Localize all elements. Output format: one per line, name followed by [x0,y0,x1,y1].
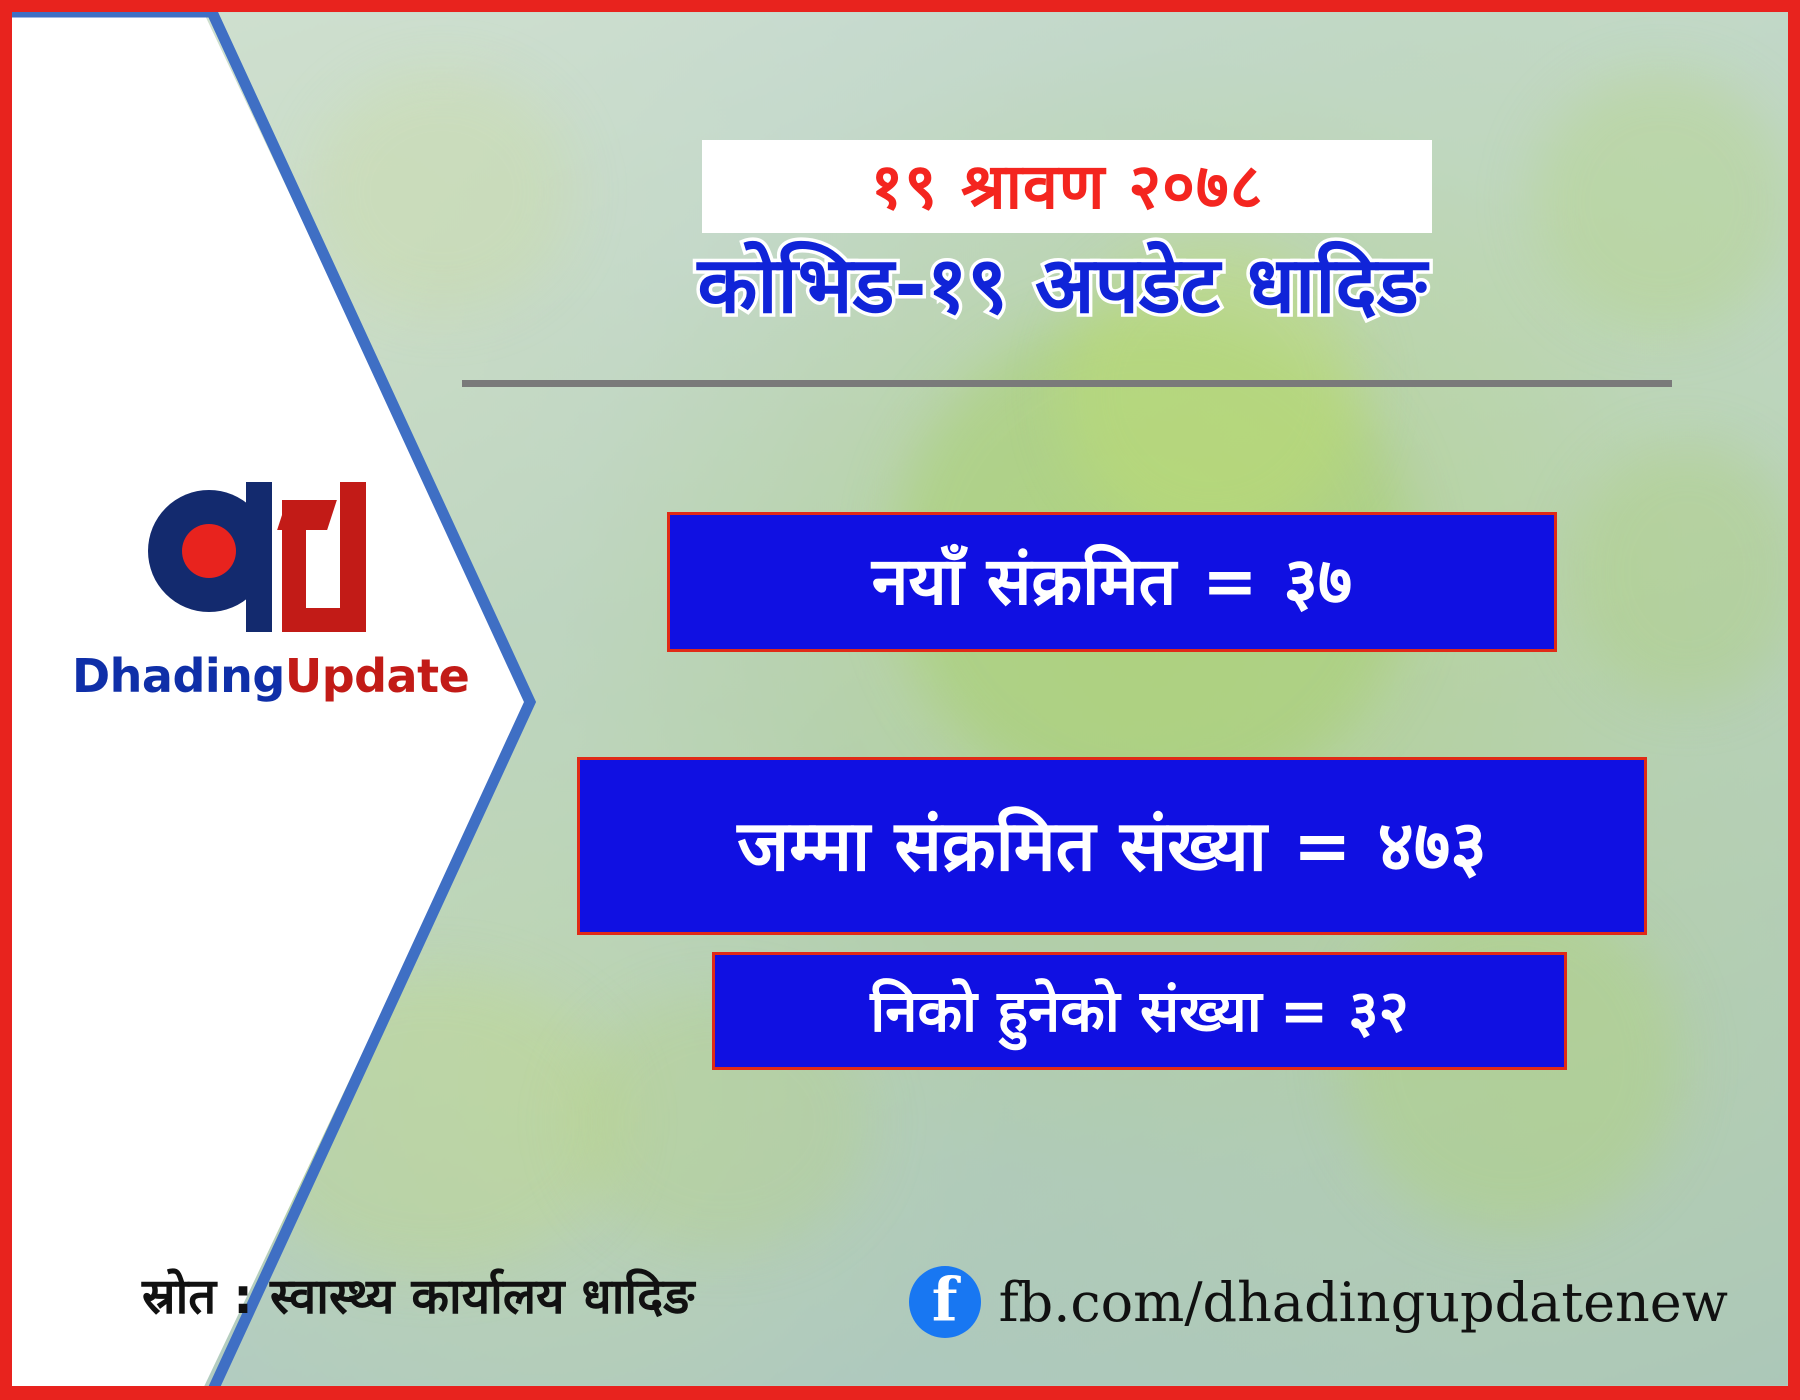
facebook-icon[interactable] [909,1266,981,1338]
brand-logo: DhadingUpdate [72,482,442,699]
logo-u-right-stroke [340,482,366,632]
stat-label-new-cases: नयाँ संक्रमित [872,549,1176,615]
stat-equals-total-cases: = [1293,811,1352,881]
facebook-handle[interactable]: fb.com/dhadingupdatenew [909,1266,1728,1338]
brand-wordmark-part1: Dhading [72,649,285,703]
stat-label-total-cases: जम्मा संक्रमित संख्या [737,811,1267,881]
facebook-url-text[interactable]: fb.com/dhadingupdatenew [999,1271,1728,1334]
stat-label-recovered: निको हुनेको संख्या [870,982,1262,1040]
du-monogram-icon [142,482,372,647]
date-text: १९ श्रावण २०७८ [871,155,1264,218]
stat-card-recovered: निको हुनेको संख्या = ३२ [712,952,1567,1070]
date-banner: १९ श्रावण २०७८ [702,140,1432,233]
page-title-text: कोभिड-१९ अपडेट धादिङ [697,244,1426,328]
stat-value-recovered: ३२ [1348,982,1408,1040]
brand-wordmark-part2: Update [285,649,469,703]
poster-canvas: DhadingUpdate १९ श्रावण २०७८ कोभिड-१९ अप… [12,12,1788,1386]
stat-value-total-cases: ४७३ [1378,811,1487,881]
stat-card-total-cases: जम्मा संक्रमित संख्या = ४७३ [577,757,1647,935]
page-title: कोभिड-१९ अपडेट धादिङ [442,244,1682,328]
logo-d-counter [182,524,236,578]
stat-equals-new-cases: = [1202,549,1257,615]
title-underline-divider [462,380,1672,387]
stat-card-new-cases: नयाँ संक्रमित = ३७ [667,512,1557,652]
stat-equals-recovered: = [1280,982,1329,1040]
logo-d-stem [246,482,272,632]
source-credit: स्रोत : स्वास्थ्य कार्यालय धादिङ [142,1262,694,1328]
poster-root: DhadingUpdate १९ श्रावण २०७८ कोभिड-१९ अप… [0,0,1800,1400]
stat-value-new-cases: ३७ [1284,549,1353,615]
brand-wordmark: DhadingUpdate [72,653,442,699]
